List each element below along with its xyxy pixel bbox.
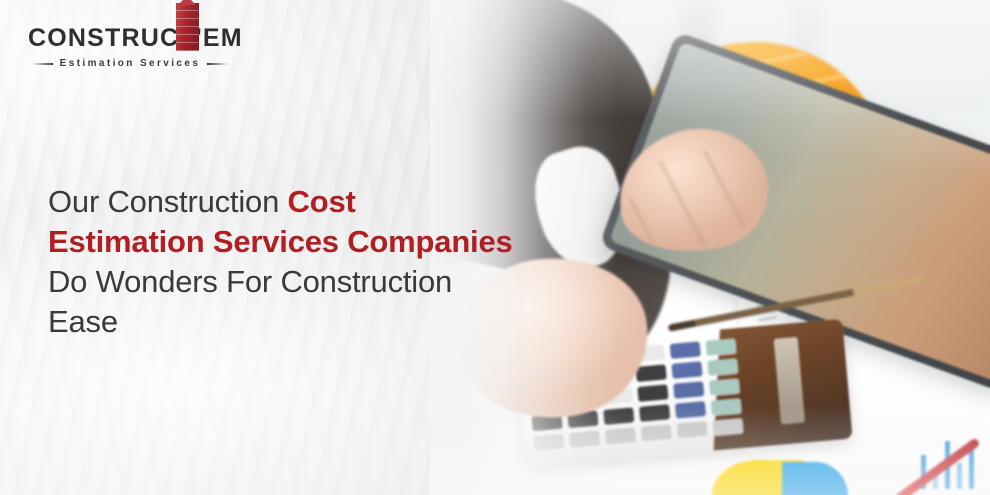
page-title: Our Construction Cost Estimation Service… xyxy=(48,182,518,342)
logo-rule-right xyxy=(207,63,228,65)
logo-tagline-row: Estimation Services xyxy=(28,58,228,69)
logo-wordmark-text: CONSTRUCT'EM xyxy=(28,24,243,52)
building-tower-icon xyxy=(176,3,199,51)
logo-rule-left xyxy=(32,63,53,65)
brand-logo[interactable]: CONSTRUCT'EM Estimation Services xyxy=(28,26,228,69)
headline-plain-start: Our Construction xyxy=(48,184,288,219)
hero-banner: CONSTRUCT'EM Estimation Services Our Con… xyxy=(0,0,990,495)
logo-wordmark: CONSTRUCT'EM xyxy=(28,26,228,51)
headline-plain-end: Do Wonders For Construction Ease xyxy=(48,264,452,339)
logo-tagline: Estimation Services xyxy=(60,58,201,69)
